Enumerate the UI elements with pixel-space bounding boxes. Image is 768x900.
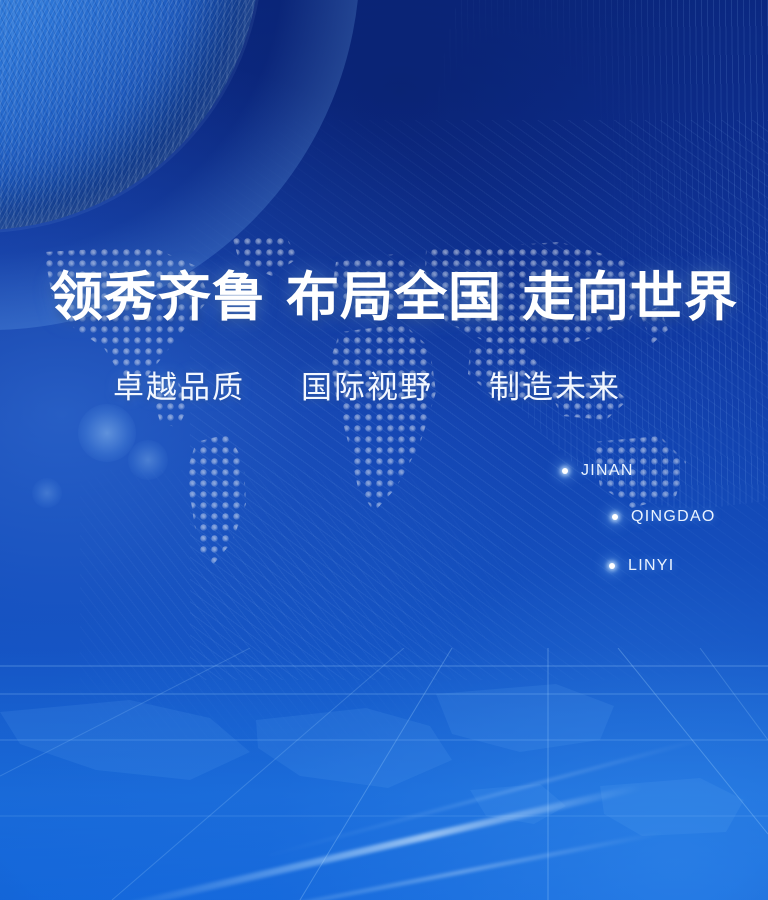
subheadline-segment-1: 卓越品质 (113, 372, 245, 403)
hero-banner: 领秀齐鲁 布局全国 走向世界 卓越品质 国际视野 制造未来 JINAN QING… (0, 0, 768, 900)
globe-atmosphere-rim (0, 0, 263, 233)
headline-segment-1: 领秀齐鲁 (50, 272, 266, 325)
globe-surface (0, 0, 260, 230)
perspective-grid-floor (0, 648, 768, 900)
earth-globe-graphic (0, 0, 260, 230)
headline-segment-2: 布局全国 (286, 272, 502, 325)
city-marker-linyi[interactable]: LINYI (609, 557, 675, 575)
bokeh-orb (128, 440, 168, 480)
map-pin-dot-icon (612, 514, 618, 520)
city-marker-jinan[interactable]: JINAN (562, 462, 634, 480)
bokeh-orb (78, 404, 136, 462)
left-light-wash (0, 0, 768, 900)
subheadline-segment-2: 国际视野 (301, 372, 433, 403)
floor-glow (0, 648, 768, 900)
headline: 领秀齐鲁 布局全国 走向世界 (50, 272, 738, 325)
light-streak (154, 830, 665, 900)
map-pin-dot-icon (562, 468, 568, 474)
headline-segment-3: 走向世界 (522, 272, 738, 325)
light-streak (258, 735, 713, 860)
map-pin-dot-icon (609, 563, 615, 569)
subheadline-segment-3: 制造未来 (489, 372, 621, 403)
globe-texture (0, 0, 260, 230)
subheadline: 卓越品质 国际视野 制造未来 (113, 372, 621, 403)
city-marker-qingdao[interactable]: QINGDAO (612, 508, 716, 526)
vignette-overlay (0, 0, 768, 900)
bokeh-orb (32, 478, 62, 508)
bottom-light-wash (0, 0, 768, 900)
line-fan-lower (80, 470, 700, 770)
light-streak (96, 783, 643, 900)
city-label: LINYI (628, 557, 675, 575)
top-shade-overlay (0, 0, 768, 900)
city-label: JINAN (581, 462, 634, 480)
city-label: QINGDAO (631, 508, 716, 526)
